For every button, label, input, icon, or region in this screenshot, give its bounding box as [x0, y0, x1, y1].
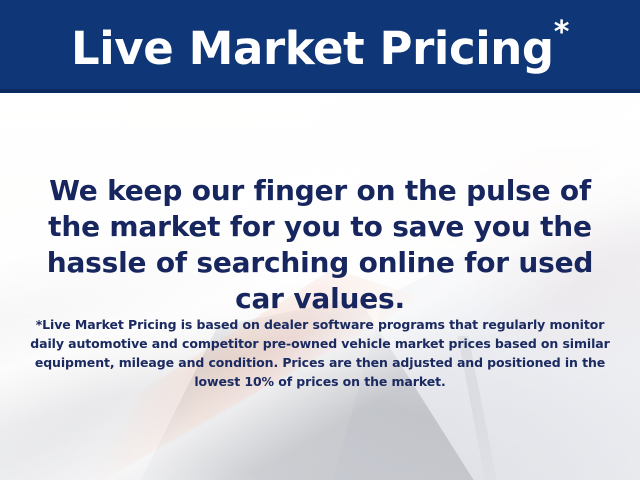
- headline-text: We keep our finger on the pulse of the m…: [28, 173, 612, 317]
- page-title-asterisk: *: [554, 15, 569, 50]
- page-title: Live Market Pricing*: [71, 18, 569, 71]
- content-area: We keep our finger on the pulse of the m…: [0, 93, 640, 480]
- page-title-text: Live Market Pricing: [71, 22, 554, 75]
- header-band: Live Market Pricing*: [0, 0, 640, 93]
- fineprint-disclaimer: *Live Market Pricing is based on dealer …: [30, 315, 610, 391]
- live-market-pricing-banner: Live Market Pricing* We keep our finger …: [0, 0, 640, 480]
